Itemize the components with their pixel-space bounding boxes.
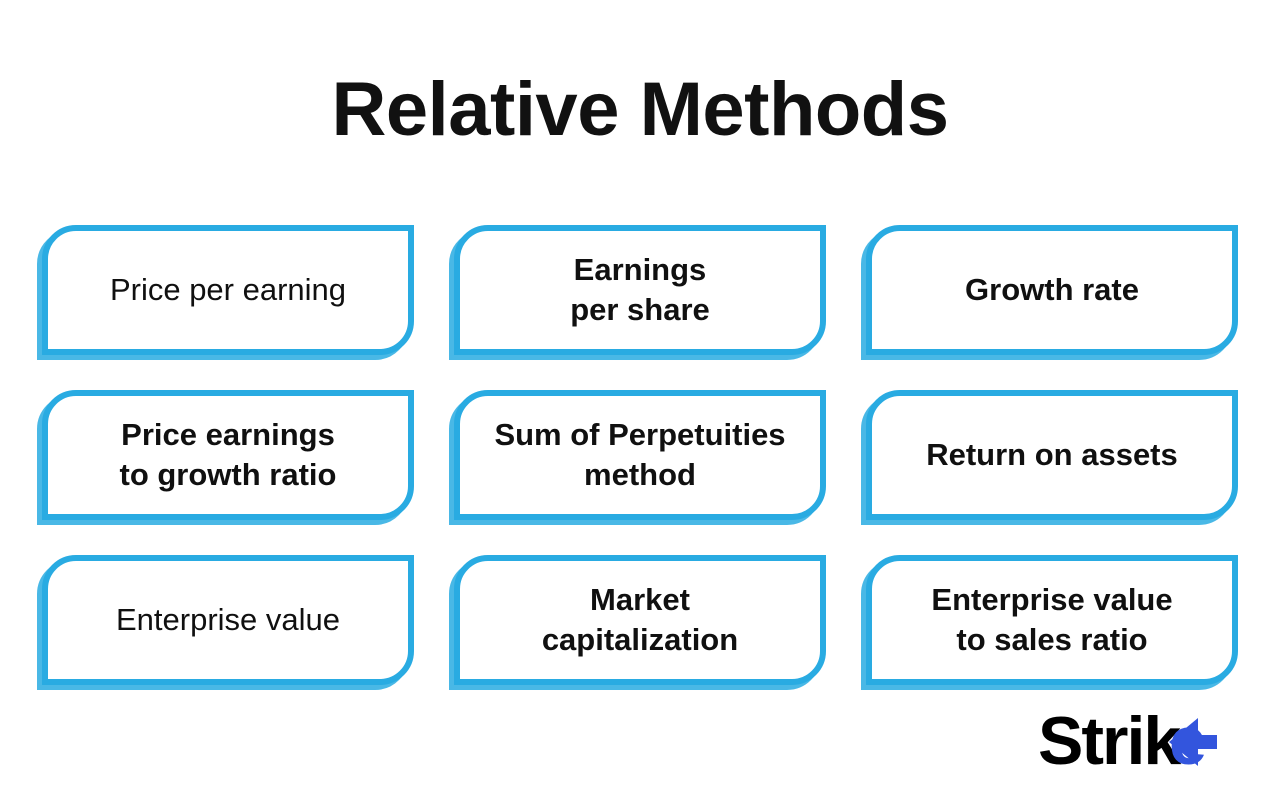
method-card-body: Enterprise value to sales ratio xyxy=(866,555,1238,685)
method-card[interactable]: Growth rate xyxy=(866,225,1238,355)
method-card-body: Return on assets xyxy=(866,390,1238,520)
method-card-body: Sum of Perpetuities method xyxy=(454,390,826,520)
method-card[interactable]: Enterprise value xyxy=(42,555,414,685)
method-card-body: Market capitalization xyxy=(454,555,826,685)
method-card-body: Price per earning xyxy=(42,225,414,355)
method-card[interactable]: Earnings per share xyxy=(454,225,826,355)
method-card[interactable]: Market capitalization xyxy=(454,555,826,685)
method-card-body: Enterprise value xyxy=(42,555,414,685)
method-card-label: Market capitalization xyxy=(542,580,738,659)
method-card-body: Earnings per share xyxy=(454,225,826,355)
method-card-label: Price per earning xyxy=(110,270,346,310)
method-card-label: Price earnings to growth ratio xyxy=(120,415,337,494)
method-card-label: Sum of Perpetuities method xyxy=(494,415,785,494)
method-card[interactable]: Enterprise value to sales ratio xyxy=(866,555,1238,685)
method-card-body: Price earnings to growth ratio xyxy=(42,390,414,520)
method-card-label: Enterprise value to sales ratio xyxy=(931,580,1172,659)
method-card-label: Enterprise value xyxy=(116,600,340,640)
method-card[interactable]: Return on assets xyxy=(866,390,1238,520)
method-card-label: Growth rate xyxy=(965,270,1139,310)
strike-logo-icon: Strik e xyxy=(1038,704,1254,782)
infographic-page: Relative Methods Price per earning Earni… xyxy=(0,0,1280,800)
strike-logo-text-black: Strik xyxy=(1038,704,1181,779)
strike-logo[interactable]: Strik e xyxy=(1038,712,1254,782)
arrow-shaft-icon xyxy=(1193,735,1217,749)
method-card-label: Return on assets xyxy=(926,435,1178,475)
method-card-label: Earnings per share xyxy=(570,250,710,329)
method-card-body: Growth rate xyxy=(866,225,1238,355)
page-title: Relative Methods xyxy=(0,72,1280,148)
methods-grid: Price per earning Earnings per share Gro… xyxy=(42,225,1238,685)
method-card[interactable]: Sum of Perpetuities method xyxy=(454,390,826,520)
method-card[interactable]: Price per earning xyxy=(42,225,414,355)
method-card[interactable]: Price earnings to growth ratio xyxy=(42,390,414,520)
